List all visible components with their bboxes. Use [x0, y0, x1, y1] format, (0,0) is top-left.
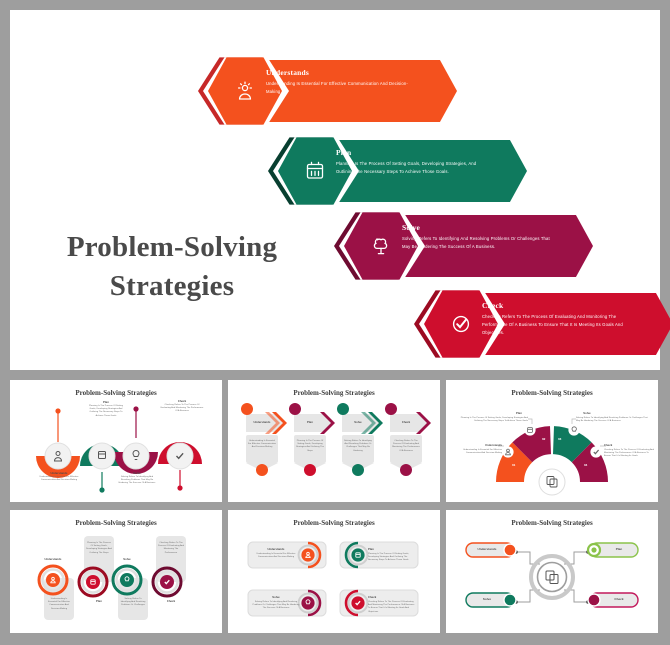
- main-slide[interactable]: Problem-Solving Strategies: [10, 10, 660, 370]
- svg-text:01: 01: [512, 463, 516, 467]
- item-label: Solve: [110, 558, 144, 561]
- item-label: Understands: [248, 421, 276, 424]
- item-label: Check: [368, 596, 412, 599]
- item-desc: Solving Refers To Identifying And Resolv…: [120, 598, 146, 608]
- item-desc: Checking Refers To The Process Of Evalua…: [158, 542, 184, 555]
- svg-text:04: 04: [584, 463, 588, 467]
- item-label: Plan: [368, 548, 412, 551]
- item-desc: Understanding Is Essential For Effective…: [252, 553, 300, 559]
- item-label: Check: [158, 600, 184, 603]
- pill-grid-diagram: [228, 510, 440, 633]
- item-desc: Understanding Is Essential For Effective…: [36, 476, 82, 482]
- step-band-solve[interactable]: Solve Solving Refers To Identifying And …: [338, 215, 608, 277]
- page-title: Problem-Solving Strategies: [44, 228, 300, 306]
- item-desc: Planning Is The Process Of Setting Goals…: [88, 405, 124, 418]
- item-desc: Planning Is The Process Of Setting Goals…: [86, 542, 112, 555]
- step-title: Check: [482, 301, 632, 310]
- item-desc: Solving Refers To Identifying And Resolv…: [116, 476, 158, 486]
- item-label: Solve: [344, 421, 372, 424]
- item-desc: Planning Is The Process Of Setting Goals…: [296, 440, 324, 453]
- step-title: Understands: [266, 68, 416, 77]
- step-desc: Solving Refers To Identifying And Resolv…: [402, 235, 552, 251]
- item-label: Check: [602, 597, 636, 601]
- item-desc: Checking Refers To The Process Of Evalua…: [604, 449, 654, 459]
- item-label: Plan: [506, 412, 532, 415]
- item-desc: Solving Refers To Identifying And Resolv…: [252, 601, 300, 611]
- thumbnail-pill-grid[interactable]: Problem-Solving Strategies: [228, 510, 440, 633]
- item-label: Check: [604, 444, 638, 447]
- item-label: Understands: [470, 547, 504, 551]
- item-label: Understands: [254, 548, 298, 551]
- item-label: Plan: [602, 547, 636, 551]
- item-desc: Solving Refers To Identifying And Resolv…: [576, 417, 648, 423]
- step-title: Plan: [336, 148, 486, 157]
- hub-diagram: [446, 510, 658, 633]
- svg-text:03: 03: [558, 437, 562, 441]
- vertical-cards-diagram: [10, 510, 222, 633]
- item-desc: Understanding Is Essential For Effective…: [46, 598, 72, 611]
- item-label: Understands: [34, 558, 72, 561]
- item-label: Solve: [118, 472, 156, 475]
- step-text: Understands Understanding Is Essential F…: [266, 68, 416, 96]
- item-label: Understands: [468, 444, 502, 447]
- item-label: Check: [392, 421, 420, 424]
- step-text: Solve Solving Refers To Identifying And …: [402, 223, 552, 251]
- thumbnail-semicircle-fan[interactable]: Problem-Solving Strategies: [446, 380, 658, 502]
- item-label: Solve: [470, 597, 504, 601]
- thumbnail-hub-spokes[interactable]: Problem-Solving Strategies Un: [446, 510, 658, 633]
- item-desc: Checking Refers To The Process Of Evalua…: [368, 601, 416, 614]
- item-desc: Planning Is The Process Of Setting Goals…: [368, 553, 416, 563]
- item-desc: Planning Is The Process Of Setting Goals…: [456, 417, 528, 423]
- thumbnail-chevron-cards[interactable]: Problem-Solving Strategies: [228, 380, 440, 502]
- step-desc: Understanding Is Essential For Effective…: [266, 80, 416, 96]
- thumbnail-vertical-target-cards[interactable]: Problem-Solving Strategies: [10, 510, 222, 633]
- item-label: Solve: [254, 596, 298, 599]
- item-label: Plan: [88, 401, 124, 404]
- item-desc: Understanding Is Essential For Effective…: [248, 440, 276, 450]
- svg-text:02: 02: [542, 437, 546, 441]
- step-band-check[interactable]: Check Checking Refers To The Process Of …: [418, 293, 670, 355]
- item-label: Check: [162, 400, 202, 403]
- item-label: Plan: [296, 421, 324, 424]
- item-desc: Understanding Is Essential For Effective…: [452, 449, 502, 455]
- thumbnail-wave-timeline[interactable]: Problem-Solving Strategies: [10, 380, 222, 502]
- step-band-plan[interactable]: Plan Planning Is The Process Of Setting …: [272, 140, 542, 202]
- presentation-preview-page: Problem-Solving Strategies: [0, 0, 670, 645]
- step-text: Plan Planning Is The Process Of Setting …: [336, 148, 486, 176]
- step-text: Check Checking Refers To The Process Of …: [482, 301, 632, 336]
- item-label: Understands: [38, 472, 80, 475]
- step-desc: Checking Refers To The Process Of Evalua…: [482, 313, 632, 336]
- step-title: Solve: [402, 223, 552, 232]
- item-desc: Solving Refers To Identifying And Resolv…: [344, 440, 372, 453]
- item-label: Solve: [574, 412, 600, 415]
- item-desc: Checking Refers To The Process Of Evalua…: [160, 404, 204, 414]
- fan-diagram: 0102 0304: [446, 380, 658, 502]
- step-desc: Planning Is The Process Of Setting Goals…: [336, 160, 486, 176]
- step-band-understands[interactable]: Understands Understanding Is Essential F…: [202, 60, 472, 122]
- item-desc: Checking Refers To The Process Of Evalua…: [392, 440, 420, 453]
- item-label: Plan: [86, 600, 112, 603]
